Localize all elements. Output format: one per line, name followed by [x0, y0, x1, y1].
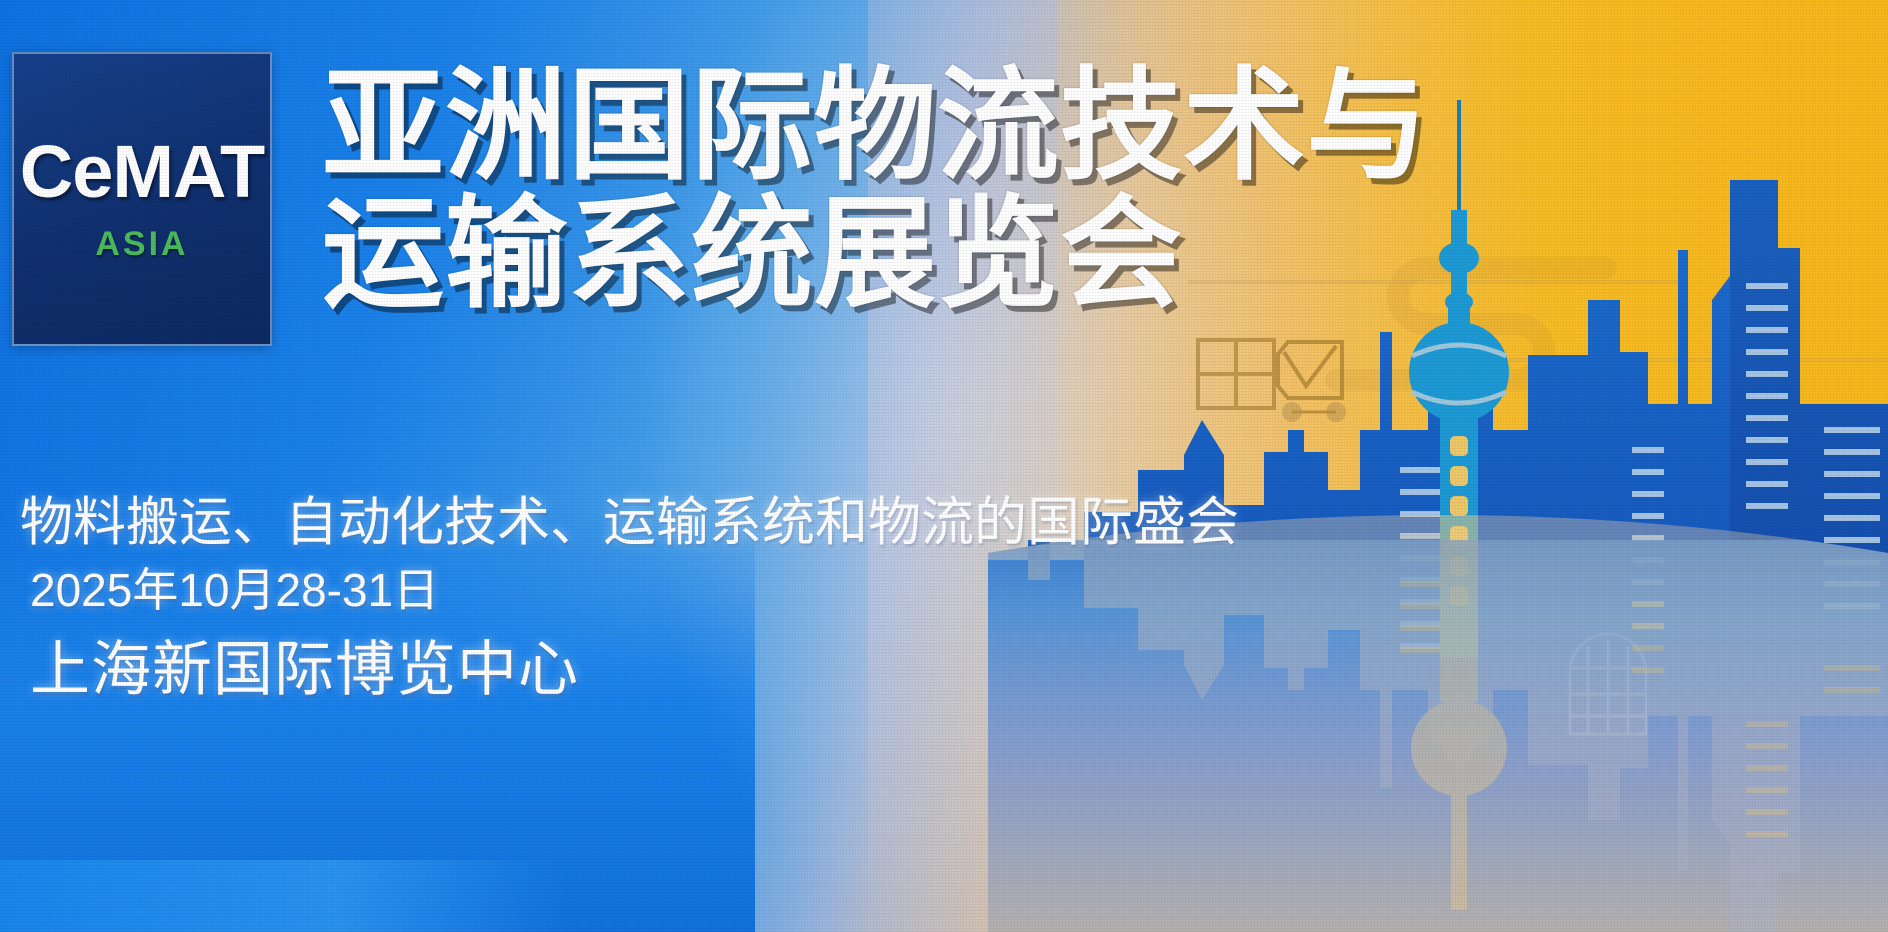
background-texture [0, 0, 1888, 932]
cemat-asia-banner: CeMAT ASIA 亚洲国际物流技术与 运输系统展览会 物料搬运、自动化技术、… [0, 0, 1888, 932]
